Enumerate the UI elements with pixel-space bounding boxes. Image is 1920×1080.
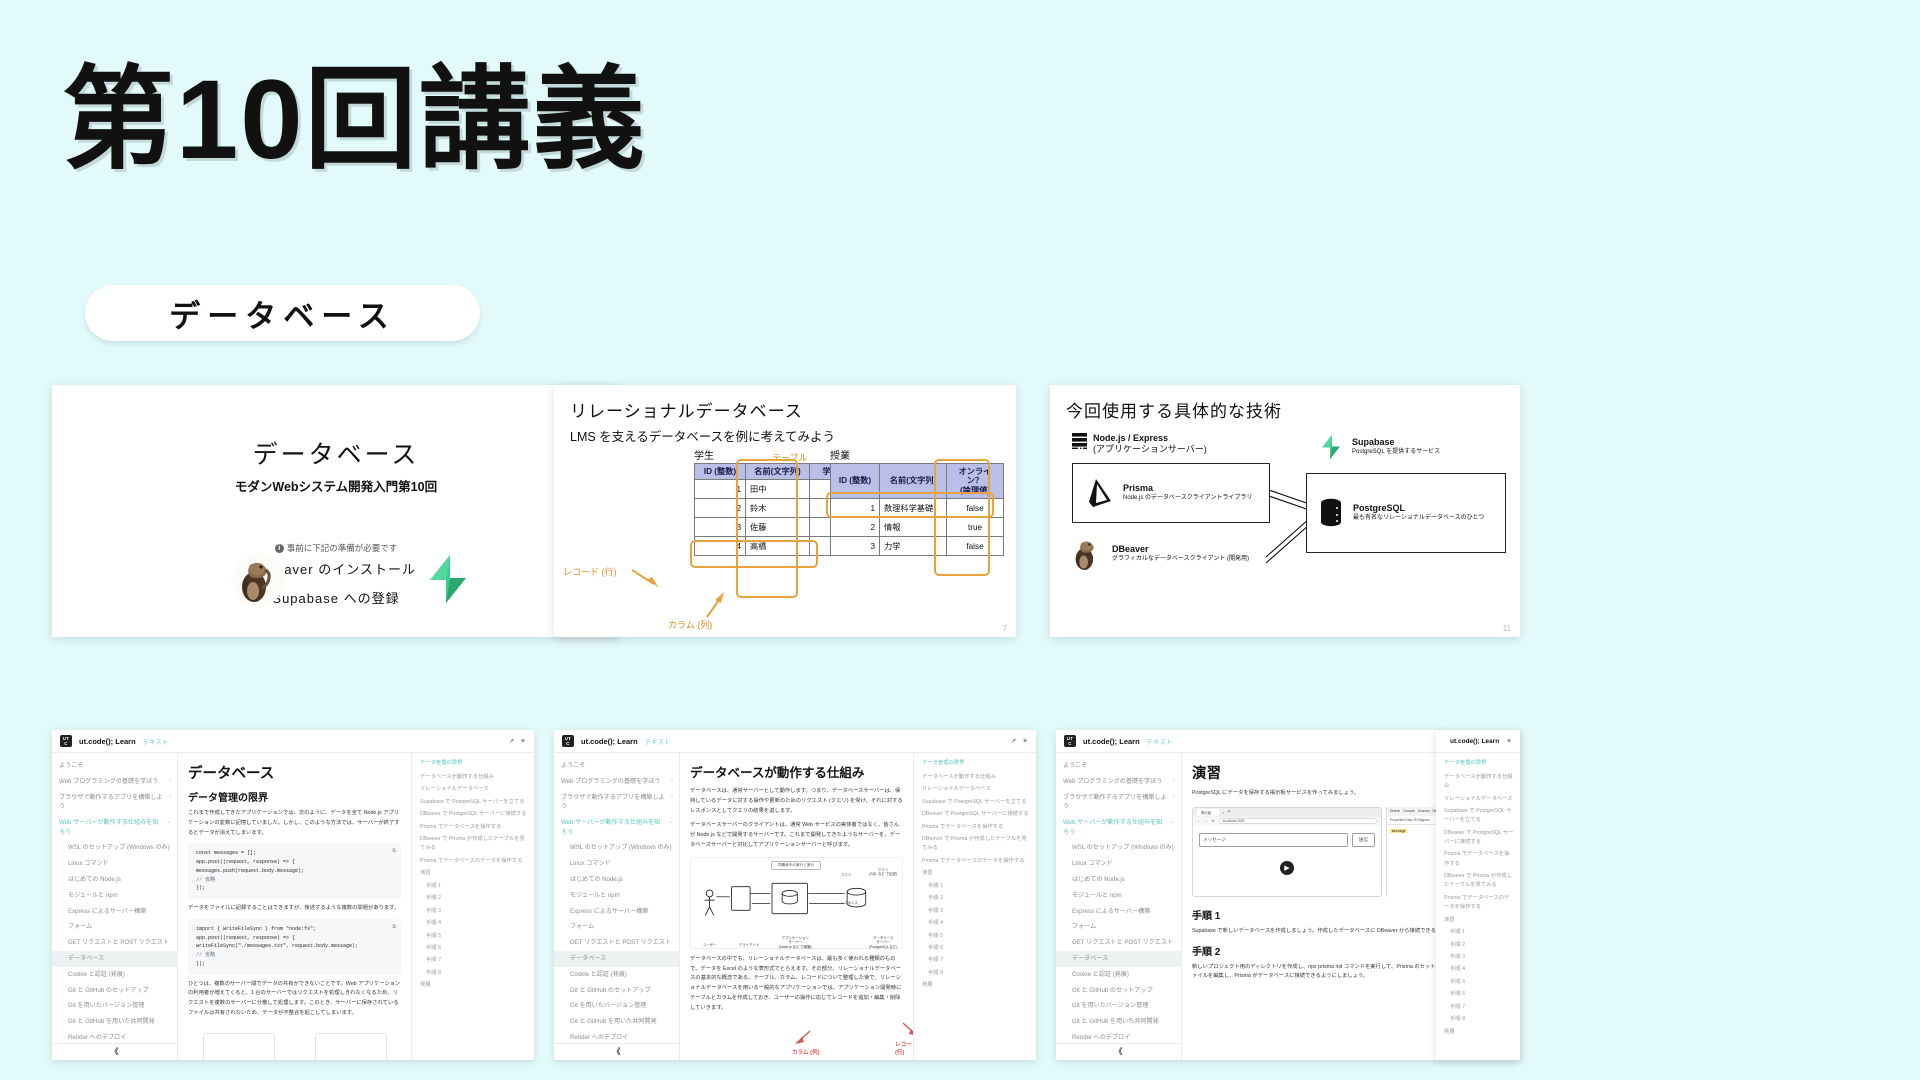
sidebar-item-9[interactable]: フォーム <box>1063 919 1175 935</box>
toc-item-2[interactable]: Supabase で PostgreSQL サーバーを立てる <box>1444 805 1514 827</box>
sidebar-item-8[interactable]: Express によるサーバー構築 <box>1063 903 1175 919</box>
sidebar-item-label: はじめての Node.js <box>68 875 171 884</box>
sidebar-item-14[interactable]: Git を用いたバージョン管理 <box>561 998 673 1014</box>
sidebar-item-12[interactable]: Cookie と認証 (発展) <box>1063 967 1175 983</box>
slide1-prep-line-1: DBeaver のインストール <box>52 559 620 578</box>
toc-item-2[interactable]: Supabase で PostgreSQL サーバーを立てる <box>922 796 1030 808</box>
toc-item-5[interactable]: DBeaver で Prisma が作成したテーブルを見てみる <box>420 834 528 856</box>
prisma-logo-icon <box>1087 478 1113 508</box>
table-row: 2情報true <box>831 518 1004 537</box>
toc-step-5[interactable]: 手順 6 <box>420 942 528 954</box>
sidebar-item-2[interactable]: ブラウザで動作するアプリを構築しよう› <box>59 790 171 815</box>
sidebar-item-5[interactable]: Linux コマンド <box>1063 856 1175 872</box>
sidebar-collapse-button[interactable]: 《 <box>1056 1043 1181 1060</box>
toc-item-7[interactable]: 演習 <box>922 868 1030 880</box>
panel2-topbar: UTC ut.code(); Learn テキスト ↗ ☀ <box>554 730 1036 753</box>
annotation-record-arrow <box>630 568 666 594</box>
sidebar-item-5[interactable]: Linux コマンド <box>561 856 673 872</box>
brand-label: ut.code(); Learn <box>1083 737 1140 746</box>
toc-footer[interactable]: 発展 <box>922 980 1030 992</box>
chevron-right-icon[interactable]: › <box>671 777 673 786</box>
toc-step-7[interactable]: 手順 8 <box>1444 1014 1514 1026</box>
chevron-right-icon[interactable]: › <box>169 793 171 802</box>
sidebar-item-label: ブラウザで動作するアプリを構築しよう <box>59 793 166 812</box>
slide3-page-number: 11 <box>1503 624 1511 633</box>
sidebar-item-4[interactable]: WSL のセットアップ (Windows のみ) <box>561 840 673 856</box>
sidebar-item-label: Git と GitHub を用いた共同開発 <box>1072 1017 1175 1026</box>
sidebar-item-15[interactable]: Git と GitHub を用いた共同開発 <box>561 1014 673 1030</box>
sidebar-item-5[interactable]: Linux コマンド <box>59 856 171 872</box>
diagram-user-label: ユーザー <box>703 942 717 947</box>
sidebar-item-6[interactable]: はじめての Node.js <box>59 872 171 888</box>
toc-step-2[interactable]: 手順 3 <box>922 905 1030 917</box>
sidebar-item-3[interactable]: Web サーバーが動作する仕組みを知ろう⌄ <box>59 815 171 840</box>
sidebar-item-8[interactable]: Express によるサーバー構築 <box>59 903 171 919</box>
sidebar-item-label: Web プログラミングの基礎を学ぼう <box>1063 777 1170 786</box>
sidebar-item-8[interactable]: Express によるサーバー構築 <box>561 903 673 919</box>
nav-text-link[interactable]: テキスト <box>143 736 169 746</box>
panel1-p1: これまで作成してきたアプリケーションでは、次のように、データを全て Node.j… <box>188 809 401 838</box>
sidebar-item-label: Web プログラミングの基礎を学ぼう <box>561 777 668 786</box>
panel2-p3: データベースの中でも、リレーショナルデータベースは、最も多く使われる種類のもので… <box>690 955 903 1014</box>
toc-item-0[interactable]: データベースが動作する仕組み <box>922 771 1030 783</box>
chevron-down-icon[interactable]: ⌄ <box>166 818 171 827</box>
chevron-down-icon[interactable]: ⌄ <box>668 818 673 827</box>
toc-step-7[interactable]: 手順 8 <box>420 967 528 979</box>
sidebar-item-10[interactable]: GET リクエストと POST リクエスト <box>561 935 673 951</box>
brand-label: ut.code(); Learn <box>79 737 136 746</box>
class-col-name: 名前(文字列) <box>880 464 947 499</box>
sidebar-item-9[interactable]: フォーム <box>59 919 171 935</box>
sidebar-item-label: WSL のセットアップ (Windows のみ) <box>1072 843 1175 852</box>
play-icon[interactable]: ▶ <box>1280 861 1294 875</box>
sidebar-item-label: モジュールと npm <box>68 891 171 900</box>
chevron-right-icon[interactable]: › <box>671 793 673 802</box>
sidebar-item-1[interactable]: Web プログラミングの基礎を学ぼう› <box>561 774 673 790</box>
browser-panel-database[interactable]: UTC ut.code(); Learn テキスト ↗ ☀ ようこそWeb プロ… <box>52 730 534 1060</box>
class-col-online: オンライン？ (論理値) <box>947 464 1004 499</box>
slide1-title: データベース <box>52 435 620 471</box>
panel2-p1: データベースは、通常サーバーとして動作します。つまり、データベースサーバーは、保… <box>690 787 903 816</box>
toc-step-1[interactable]: 手順 2 <box>922 893 1030 905</box>
panel2-annotation-column-group: カラム (列) <box>792 1029 820 1056</box>
slide-card-relational-db[interactable]: リレーショナルデータベース LMS を支えるデータベースを例に考えてみよう テー… <box>554 385 1016 637</box>
sidebar-item-label: Web プログラミングの基礎を学ぼう <box>59 777 166 786</box>
annotation-arrow-record <box>895 1021 913 1037</box>
toc-item-4[interactable]: Prisma でデータベースを操作する <box>1444 849 1514 871</box>
toc-item-1[interactable]: リレーショナルデータベース <box>1444 793 1514 805</box>
sidebar-item-label: Cookie と認証 (発展) <box>1072 970 1175 979</box>
page-title: 第10回講義 <box>62 58 647 181</box>
sidebar-item-label: モジュールと npm <box>1072 891 1175 900</box>
sidebar-item-label: ようこそ <box>59 761 171 770</box>
sidebar-item-label: フォーム <box>1072 922 1175 931</box>
toc-heading: データ管理の限界 <box>922 759 1030 768</box>
supabase-name: Supabase <box>1352 437 1440 448</box>
sidebar-list: ようこそWeb プログラミングの基礎を学ぼう›ブラウザで動作するアプリを構築しよ… <box>1063 758 1175 1046</box>
mock-browser: 掲示板 × + ← → ⟳ localhost:3000 メッセー <box>1192 807 1382 897</box>
slide2-title: リレーショナルデータベース <box>570 397 803 422</box>
sidebar-item-15[interactable]: Git と GitHub を用いた共同開発 <box>1063 1014 1175 1030</box>
toc-item-3[interactable]: DBeaver で PostgreSQL サーバーに接続する <box>420 809 528 821</box>
panel4-topbar: ut.code(); Learn ☀ <box>1436 730 1520 753</box>
nav-text-link[interactable]: テキスト <box>645 736 671 746</box>
sidebar-item-label: Cookie と認証 (発展) <box>68 970 171 979</box>
student-col-id: ID (整数) <box>695 464 746 480</box>
browser-panel-toc-strip[interactable]: ut.code(); Learn ☀ データ管理の限界 データベースが動作する仕… <box>1436 730 1520 1060</box>
slide1-subtitle: モダンWebシステム開発入門第10回 <box>52 476 620 495</box>
theme-toggle-icon[interactable]: ☀ <box>1022 737 1028 745</box>
sidebar-item-label: Render へのデプロイ <box>570 1033 673 1042</box>
sidebar-item-label: GET リクエストと POST リクエスト <box>68 938 171 947</box>
postgresql-name: PostgreSQL <box>1353 503 1484 514</box>
nodejs-name: Node.js / Express <box>1093 433 1207 444</box>
supabase-group: Supabase PostgreSQL を提供するサービス <box>1318 433 1440 461</box>
sidebar-item-label: Render へのデプロイ <box>68 1033 171 1042</box>
table-row: 1数理科学基礎false <box>831 499 1004 518</box>
diagram-app-server-label: アプリケーション サーバー (Node.js など で構築) <box>779 936 812 949</box>
utcode-logo-icon: UTC <box>1064 735 1076 747</box>
dbeaver-name: DBeaver <box>1112 544 1249 555</box>
sidebar-item-1[interactable]: Web プログラミングの基礎を学ぼう› <box>1063 774 1175 790</box>
toc-items: データベースが動作する仕組みリレーショナルデータベースSupabase で Po… <box>420 771 528 992</box>
toc-footer[interactable]: 発展 <box>420 980 528 992</box>
toc-step-3[interactable]: 手順 4 <box>1444 964 1514 976</box>
panel4-toc[interactable]: データ管理の限界 データベースが動作する仕組みリレーショナルデータベースSupa… <box>1436 753 1520 1059</box>
panel2-diagram: 同期命令の実行と実行 <box>690 857 903 949</box>
sidebar-item-label: Web サーバーが動作する仕組みを知ろう <box>59 818 163 837</box>
toc-step-4[interactable]: 手順 5 <box>922 930 1030 942</box>
forward-icon[interactable]: → <box>1204 819 1207 823</box>
mock-new-tab-icon[interactable]: + <box>1228 809 1231 815</box>
sidebar-item-label: Git と GitHub のセットアップ <box>1072 986 1175 995</box>
sidebar-item-13[interactable]: Git と GitHub のセットアップ <box>561 982 673 998</box>
panel1-toc[interactable]: データ管理の限界 データベースが動作する仕組みリレーショナルデータベースSupa… <box>411 753 534 1060</box>
toc-step-5[interactable]: 手順 6 <box>922 942 1030 954</box>
toc-step-0[interactable]: 手順 1 <box>1444 926 1514 938</box>
sidebar-item-label: ようこそ <box>1063 761 1175 770</box>
toc-footer[interactable]: 発展 <box>1444 1026 1514 1038</box>
sidebar-item-13[interactable]: Git と GitHub のセットアップ <box>1063 982 1175 998</box>
nodejs-sub: (アプリケーションサーバー) <box>1093 444 1207 455</box>
sidebar-item-0[interactable]: ようこそ <box>59 758 171 774</box>
postgresql-sub: 最も有名なリレーショナルデータベースのひとつ <box>1353 515 1484 523</box>
sidebar-item-12[interactable]: Cookie と認証 (発展) <box>561 967 673 983</box>
slide-card-title[interactable]: データベース モダンWebシステム開発入門第10回 i事前に下記の準備が必要です… <box>52 385 620 637</box>
sidebar-item-label: Render へのデプロイ <box>1072 1033 1175 1042</box>
sidebar-item-label: フォーム <box>570 922 673 931</box>
class-table-header-row: ID (整数) 名前(文字列) オンライン？ (論理値) <box>831 464 1004 499</box>
sidebar-item-6[interactable]: はじめての Node.js <box>561 872 673 888</box>
annotation-column-arrow <box>704 591 728 621</box>
diagram-client-label: クライアント <box>739 942 759 947</box>
sidebar-item-7[interactable]: モジュールと npm <box>1063 888 1175 904</box>
toc-item-3[interactable]: DBeaver で PostgreSQL サーバーに接続する <box>922 809 1030 821</box>
panel1-figure-placeholder <box>188 1033 401 1060</box>
utcode-logo-icon: UTC <box>562 735 574 747</box>
sidebar-item-label: データベース <box>570 954 673 963</box>
sidebar-collapse-button[interactable]: 《 <box>554 1043 679 1060</box>
sidebar-item-label: はじめての Node.js <box>570 875 673 884</box>
reload-icon[interactable]: ⟳ <box>1212 819 1215 823</box>
postgresql-box: PostgreSQL 最も有名なリレーショナルデータベースのひとつ <box>1306 473 1506 553</box>
sidebar-item-label: Git と GitHub のセットアップ <box>68 986 171 995</box>
annotation-record: レコード (行) <box>895 1040 913 1056</box>
dbeaver-beaver-icon <box>1072 537 1104 571</box>
sidebar-item-9[interactable]: フォーム <box>561 919 673 935</box>
brand-label: ut.code(); Learn <box>581 737 638 746</box>
toc-step-4[interactable]: 手順 5 <box>1444 976 1514 988</box>
chevron-right-icon[interactable]: › <box>169 777 171 786</box>
toc-step-6[interactable]: 手順 7 <box>420 955 528 967</box>
toc-item-6[interactable]: Prisma でデータベースのデータを操作する <box>420 855 528 867</box>
panel2-h1: データベースが動作する仕組み <box>690 762 903 781</box>
dbeaver-beaver-icon <box>232 553 285 606</box>
sidebar-item-label: データベース <box>1072 954 1175 963</box>
sidebar-item-label: WSL のセットアップ (Windows のみ) <box>570 843 673 852</box>
toc-item-3[interactable]: DBeaver で PostgreSQL サーバーに接続する <box>1444 827 1514 849</box>
browser-panel-how-db-works[interactable]: UTC ut.code(); Learn テキスト ↗ ☀ ようこそWeb プロ… <box>554 730 1036 1060</box>
supabase-logo-icon <box>422 553 474 605</box>
toc-step-1[interactable]: 手順 2 <box>1444 939 1514 951</box>
toc-item-2[interactable]: Supabase で PostgreSQL サーバーを立てる <box>420 796 528 808</box>
sidebar-item-11[interactable]: データベース <box>554 951 679 967</box>
toc-step-2[interactable]: 手順 3 <box>1444 951 1514 963</box>
sidebar-item-4[interactable]: WSL のセットアップ (Windows のみ) <box>59 840 171 856</box>
sidebar-item-label: Web サーバーが動作する仕組みを知ろう <box>561 818 665 837</box>
sidebar-item-1[interactable]: Web プログラミングの基礎を学ぼう› <box>59 774 171 790</box>
diagram-svg <box>691 866 902 936</box>
toc-item-5[interactable]: DBeaver で Prisma が作成したテーブルを見てみる <box>1444 871 1514 893</box>
dbeaver-group: DBeaver グラフィカルなデータベースクライアント (開発用) <box>1072 537 1249 571</box>
copy-icon[interactable]: ⧉ <box>392 847 396 856</box>
page-root: 第10回講義 データベース データベース モダンWebシステム開発入門第10回 … <box>0 0 1920 1080</box>
chevron-right-icon[interactable]: › <box>1173 793 1175 802</box>
sidebar-item-label: Web サーバーが動作する仕組みを知ろう <box>1063 818 1167 837</box>
sidebar-item-label: Git を用いたバージョン管理 <box>68 1001 171 1010</box>
sidebar-item-0[interactable]: ようこそ <box>561 758 673 774</box>
nodejs-group: Node.js / Express (アプリケーションサーバー) <box>1072 433 1207 456</box>
diagram-query-label: クエリ <box>841 872 851 877</box>
sidebar-item-label: Cookie と認証 (発展) <box>570 970 673 979</box>
toc-heading: データ管理の限界 <box>420 759 528 768</box>
toc-step-7[interactable]: 手順 8 <box>922 967 1030 979</box>
panel1-p3: ひとつは、複数のサーバー間でデータの共有ができないことです。Web アプリケーシ… <box>188 980 401 1019</box>
sidebar-item-label: Git と GitHub を用いた共同開発 <box>68 1017 171 1026</box>
prisma-sub: Node.js のデータベースクライアントライブラリ <box>1123 495 1252 503</box>
panel2-main: データベースが動作する仕組み データベースは、通常サーバーとして動作します。つま… <box>680 753 913 1060</box>
supabase-logo-icon <box>1318 433 1344 461</box>
panel2-sidebar[interactable]: ようこそWeb プログラミングの基礎を学ぼう›ブラウザで動作するアプリを構築しよ… <box>554 753 680 1060</box>
mock-browser-urlbar: ← → ⟳ localhost:3000 <box>1193 817 1381 826</box>
database-cylinder-icon <box>1319 498 1343 528</box>
class-table: ID (整数) 名前(文字列) オンライン？ (論理値) 1数理科学基礎fals… <box>830 463 1004 556</box>
toc-heading: データ管理の限界 <box>1444 759 1514 768</box>
mock-page-body: メッセージ 送信 ▶ <box>1193 826 1381 896</box>
sidebar-item-12[interactable]: Cookie と認証 (発展) <box>59 967 171 983</box>
sidebar-item-label: Linux コマンド <box>1072 859 1175 868</box>
toc-step-6[interactable]: 手順 7 <box>1444 1001 1514 1013</box>
toc-item-1[interactable]: リレーショナルデータベース <box>922 784 1030 796</box>
sidebar-item-label: Linux コマンド <box>570 859 673 868</box>
panel2-toc[interactable]: データ管理の限界 データベースが動作する仕組みリレーショナルデータベースSupa… <box>913 753 1036 1060</box>
panel2-annotation-record-group: レコード (行) <box>895 1021 913 1056</box>
mock-browser-tabbar: 掲示板 × + <box>1193 808 1381 817</box>
panel2-p2: データベースサーバーのクライアントは、通常 Web サービスの実体者ではなく、皆… <box>690 821 903 850</box>
mock-browser-tab[interactable]: 掲示板 <box>1197 809 1219 816</box>
sidebar-item-3[interactable]: Web サーバーが動作する仕組みを知ろう⌄ <box>561 815 673 840</box>
sidebar-item-0[interactable]: ようこそ <box>1063 758 1175 774</box>
class-col-id: ID (整数) <box>831 464 880 499</box>
server-rack-icon <box>1072 433 1087 449</box>
student-col-name: 名前(文字列) <box>746 464 810 480</box>
topic-pill: データベース <box>85 285 480 341</box>
external-link-icon[interactable]: ↗ <box>509 737 514 745</box>
sidebar-item-7[interactable]: モジュールと npm <box>561 888 673 904</box>
theme-toggle-icon[interactable]: ☀ <box>1506 737 1512 745</box>
sidebar-item-14[interactable]: Git を用いたバージョン管理 <box>1063 998 1175 1014</box>
slide1-note: i事前に下記の準備が必要です <box>52 542 620 554</box>
toc-step-4[interactable]: 手順 5 <box>420 930 528 942</box>
slide2-subtitle: LMS を支えるデータベースを例に考えてみよう <box>570 426 835 445</box>
toc-step-3[interactable]: 手順 4 <box>922 918 1030 930</box>
toc-step-5[interactable]: 手順 6 <box>1444 989 1514 1001</box>
sidebar-item-label: ようこそ <box>561 761 673 770</box>
sidebar-item-2[interactable]: ブラウザで動作するアプリを構築しよう› <box>561 790 673 815</box>
toc-item-7[interactable]: 演習 <box>420 868 528 880</box>
table-row: 3力学false <box>831 537 1004 556</box>
toc-step-0[interactable]: 手順 1 <box>420 880 528 892</box>
panel1-h2: データ管理の限界 <box>188 789 401 804</box>
class-table-caption: 授業 <box>830 447 850 462</box>
slide-card-tech-stack[interactable]: 今回使用する具体的な技術 Node.js / Express (アプリケーション <box>1050 385 1520 637</box>
toc-item-4[interactable]: Prisma でデータベースを操作する <box>922 821 1030 833</box>
sidebar-item-6[interactable]: はじめての Node.js <box>1063 872 1175 888</box>
theme-toggle-icon[interactable]: ☀ <box>520 737 526 745</box>
toc-item-6[interactable]: Prisma でデータベースのデータを操作する <box>922 855 1030 867</box>
devtools-code-token: message <box>1390 829 1407 833</box>
sidebar-list: ようこそWeb プログラミングの基礎を学ぼう›ブラウザで動作するアプリを構築しよ… <box>561 758 673 1046</box>
dbeaver-sub: グラフィカルなデータベースクライアント (開発用) <box>1112 556 1249 564</box>
toc-step-6[interactable]: 手順 7 <box>922 955 1030 967</box>
toc-item-4[interactable]: Prisma でデータベースを操作する <box>420 821 528 833</box>
sidebar-item-label: Git を用いたバージョン管理 <box>1072 1001 1175 1010</box>
diagram-response-label: レスポンス <box>841 900 858 905</box>
sidebar-item-15[interactable]: Git と GitHub を用いた共同開発 <box>59 1014 171 1030</box>
diagram-db-server-label: データベース サーバー (PostgreSQL など) <box>869 936 897 949</box>
annotation-arrow-column <box>792 1029 818 1045</box>
chevron-right-icon[interactable]: › <box>1173 777 1175 786</box>
panel3-sidebar[interactable]: ようこそWeb プログラミングの基礎を学ぼう›ブラウザで動作するアプリを構築しよ… <box>1056 753 1182 1060</box>
sidebar-item-10[interactable]: GET リクエストと POST リクエスト <box>59 935 171 951</box>
sidebar-item-7[interactable]: モジュールと npm <box>59 888 171 904</box>
toc-step-3[interactable]: 手順 4 <box>420 918 528 930</box>
chevron-down-icon[interactable]: ⌄ <box>1170 818 1175 827</box>
utcode-logo-icon: UTC <box>60 735 72 747</box>
supabase-sub: PostgreSQL を提供するサービス <box>1352 449 1440 457</box>
panel1-main: データベース データ管理の限界 これまで作成してきたアプリケーションでは、次のよ… <box>178 753 411 1060</box>
copy-icon[interactable]: ⧉ <box>392 923 396 932</box>
toc-item-0[interactable]: データベースが動作する仕組み <box>420 771 528 783</box>
annotation-column: カラム (列) <box>792 1048 820 1056</box>
sidebar-item-11[interactable]: データベース <box>52 951 177 967</box>
nav-text-link[interactable]: テキスト <box>1147 736 1173 746</box>
toc-step-0[interactable]: 手順 1 <box>922 880 1030 892</box>
panel1-h1: データベース <box>188 762 401 783</box>
external-link-icon[interactable]: ↗ <box>1011 737 1016 745</box>
toc-item-1[interactable]: リレーショナルデータベース <box>420 784 528 796</box>
sidebar-item-4[interactable]: WSL のセットアップ (Windows のみ) <box>1063 840 1175 856</box>
panel1-code-2: ⧉ import { writeFileSync } from "node:fs… <box>188 919 401 975</box>
message-input[interactable]: メッセージ <box>1199 833 1348 847</box>
mock-url-text[interactable]: localhost:3000 <box>1219 818 1377 824</box>
slide2-page-number: 7 <box>1003 624 1007 633</box>
sidebar-item-label: Git と GitHub のセットアップ <box>570 986 673 995</box>
toc-item-7[interactable]: 演習 <box>1444 914 1514 926</box>
sidebar-item-label: WSL のセットアップ (Windows のみ) <box>68 843 171 852</box>
mock-tab-close-icon[interactable]: × <box>1222 810 1224 815</box>
sidebar-item-label: Express によるサーバー構築 <box>1072 907 1175 916</box>
sidebar-item-11[interactable]: データベース <box>1056 951 1181 967</box>
sidebar-item-label: ブラウザで動作するアプリを構築しよう <box>561 793 668 812</box>
toc-step-1[interactable]: 手順 2 <box>420 893 528 905</box>
sidebar-item-label: Git を用いたバージョン管理 <box>570 1001 673 1010</box>
sidebar-item-13[interactable]: Git と GitHub のセットアップ <box>59 982 171 998</box>
prisma-name: Prisma <box>1123 483 1252 494</box>
toc-items: データベースが動作する仕組みリレーショナルデータベースSupabase で Po… <box>1444 771 1514 1038</box>
panel1-topbar: UTC ut.code(); Learn テキスト ↗ ☀ <box>52 730 534 753</box>
slide1-prep-line-2: Supabase への登録 <box>52 588 620 607</box>
sidebar-item-10[interactable]: GET リクエストと POST リクエスト <box>1063 935 1175 951</box>
diagram-right-note: クエリ (SQL など で記述) <box>869 868 897 876</box>
sidebar-item-label: Express によるサーバー構築 <box>68 907 171 916</box>
sidebar-item-label: Linux コマンド <box>68 859 171 868</box>
sidebar-item-label: フォーム <box>68 922 171 931</box>
toc-step-2[interactable]: 手順 3 <box>420 905 528 917</box>
panel1-sidebar[interactable]: ようこそWeb プログラミングの基礎を学ぼう›ブラウザで動作するアプリを構築しよ… <box>52 753 178 1060</box>
info-icon: i <box>275 544 284 553</box>
sidebar-list: ようこそWeb プログラミングの基礎を学ぼう›ブラウザで動作するアプリを構築しよ… <box>59 758 171 1046</box>
toc-item-6[interactable]: Prisma でデータベースのデータを操作する <box>1444 892 1514 914</box>
sidebar-item-label: Git と GitHub を用いた共同開発 <box>570 1017 673 1026</box>
brand-label: ut.code(); Learn <box>1450 738 1499 745</box>
sidebar-item-14[interactable]: Git を用いたバージョン管理 <box>59 998 171 1014</box>
sidebar-item-label: データベース <box>68 954 171 963</box>
send-button[interactable]: 送信 <box>1352 833 1375 847</box>
sidebar-item-3[interactable]: Web サーバーが動作する仕組みを知ろう⌄ <box>1063 815 1175 840</box>
back-icon[interactable]: ← <box>1197 819 1200 823</box>
student-table-caption: 学生 <box>694 447 714 462</box>
prisma-box: Prisma Node.js のデータベースクライアントライブラリ <box>1072 463 1270 523</box>
sidebar-item-2[interactable]: ブラウザで動作するアプリを構築しよう› <box>1063 790 1175 815</box>
sidebar-item-label: GET リクエストと POST リクエスト <box>570 938 673 947</box>
slide1-note-text: 事前に下記の準備が必要です <box>287 543 398 553</box>
sidebar-collapse-button[interactable]: 《 <box>52 1043 177 1060</box>
toc-items: データベースが動作する仕組みリレーショナルデータベースSupabase で Po… <box>922 771 1030 992</box>
sidebar-item-label: ブラウザで動作するアプリを構築しよう <box>1063 793 1170 812</box>
sidebar-item-label: Express によるサーバー構築 <box>570 907 673 916</box>
sidebar-item-label: GET リクエストと POST リクエスト <box>1072 938 1175 947</box>
annotation-record: レコード (行) <box>563 565 617 578</box>
sidebar-item-label: はじめての Node.js <box>1072 875 1175 884</box>
toc-item-5[interactable]: DBeaver で Prisma が作成したテーブルを見てみる <box>922 834 1030 856</box>
panel1-code-1: ⧉ const messages = []; app.post((request… <box>188 843 401 899</box>
toc-item-0[interactable]: データベースが動作する仕組み <box>1444 771 1514 793</box>
sidebar-item-label: モジュールと npm <box>570 891 673 900</box>
topic-pill-label: データベース <box>169 291 395 336</box>
panel1-p2: データをファイルに記録することはできますが、後述するような複数の問題があります。 <box>188 904 401 914</box>
